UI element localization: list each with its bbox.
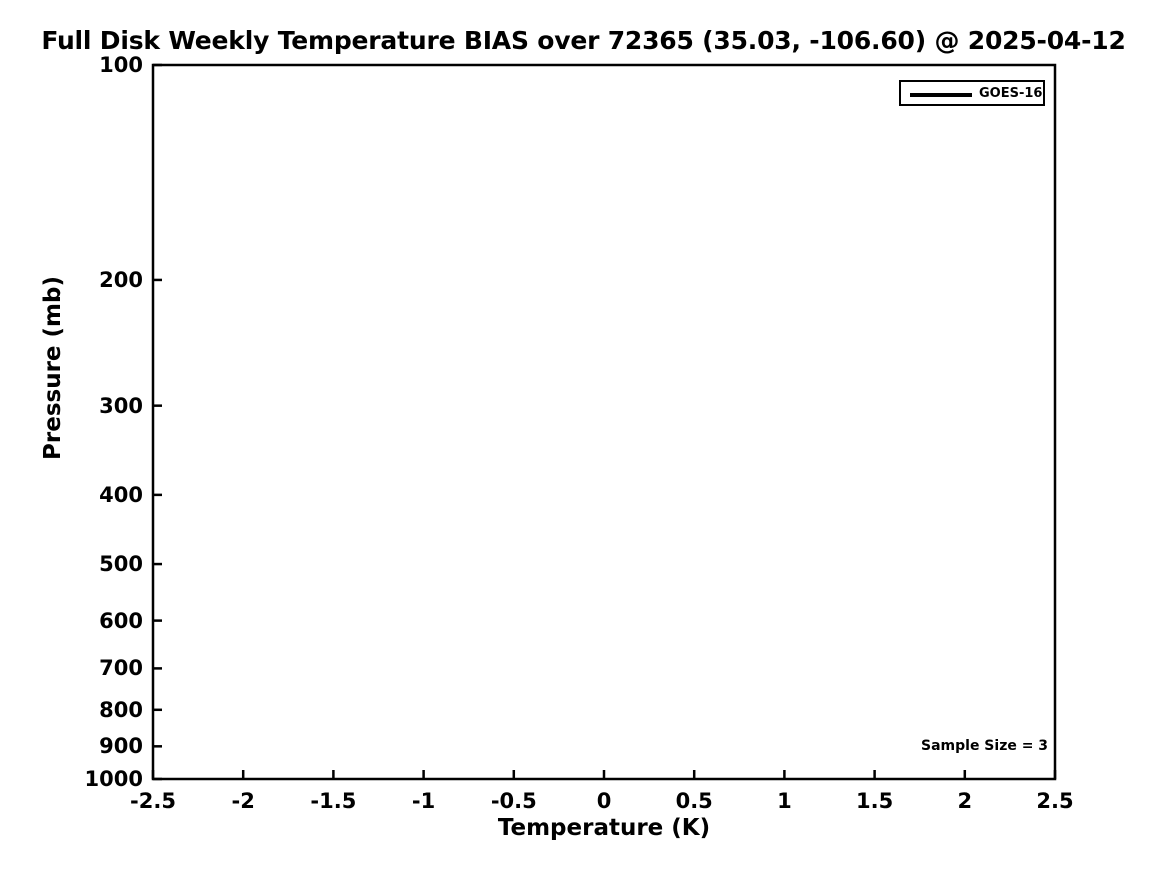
y-axis-tick-label: 400 (27, 483, 143, 507)
y-axis-tick-label: 600 (27, 609, 143, 633)
x-axis-tick-label: -2 (232, 789, 255, 813)
x-axis-tick-label: -0.5 (491, 789, 537, 813)
chart-figure: Full Disk Weekly Temperature BIAS over 7… (0, 0, 1167, 875)
y-axis-tick-label: 500 (27, 552, 143, 576)
x-axis-tick-label: -1 (412, 789, 435, 813)
plot-frame (153, 65, 1055, 779)
sample-size-annotation: Sample Size = 3 (921, 738, 1048, 754)
y-axis-label: Pressure (mb) (40, 268, 66, 468)
legend-label-goes-16: GOES-16 (979, 86, 1042, 101)
x-axis-tick-label: 1.5 (856, 789, 893, 813)
x-axis-tick-label: 1 (777, 789, 792, 813)
x-axis-tick-label: 2.5 (1036, 789, 1073, 813)
x-axis-tick-label: 0.5 (676, 789, 713, 813)
y-axis-tick-label: 1000 (27, 767, 143, 791)
y-axis-tick-label: 800 (27, 698, 143, 722)
legend-line-swatch-goes-16 (910, 93, 972, 97)
x-axis-tick-label: -2.5 (130, 789, 176, 813)
x-axis-tick-label: 2 (957, 789, 972, 813)
legend: GOES-16 (899, 80, 1045, 106)
x-axis-tick-label: 0 (597, 789, 612, 813)
x-axis-label: Temperature (K) (153, 815, 1055, 841)
x-axis-tick-label: -1.5 (310, 789, 356, 813)
y-axis-tick-label: 100 (27, 53, 143, 77)
y-axis-tick-label: 900 (27, 734, 143, 758)
y-axis-tick-label: 700 (27, 656, 143, 680)
